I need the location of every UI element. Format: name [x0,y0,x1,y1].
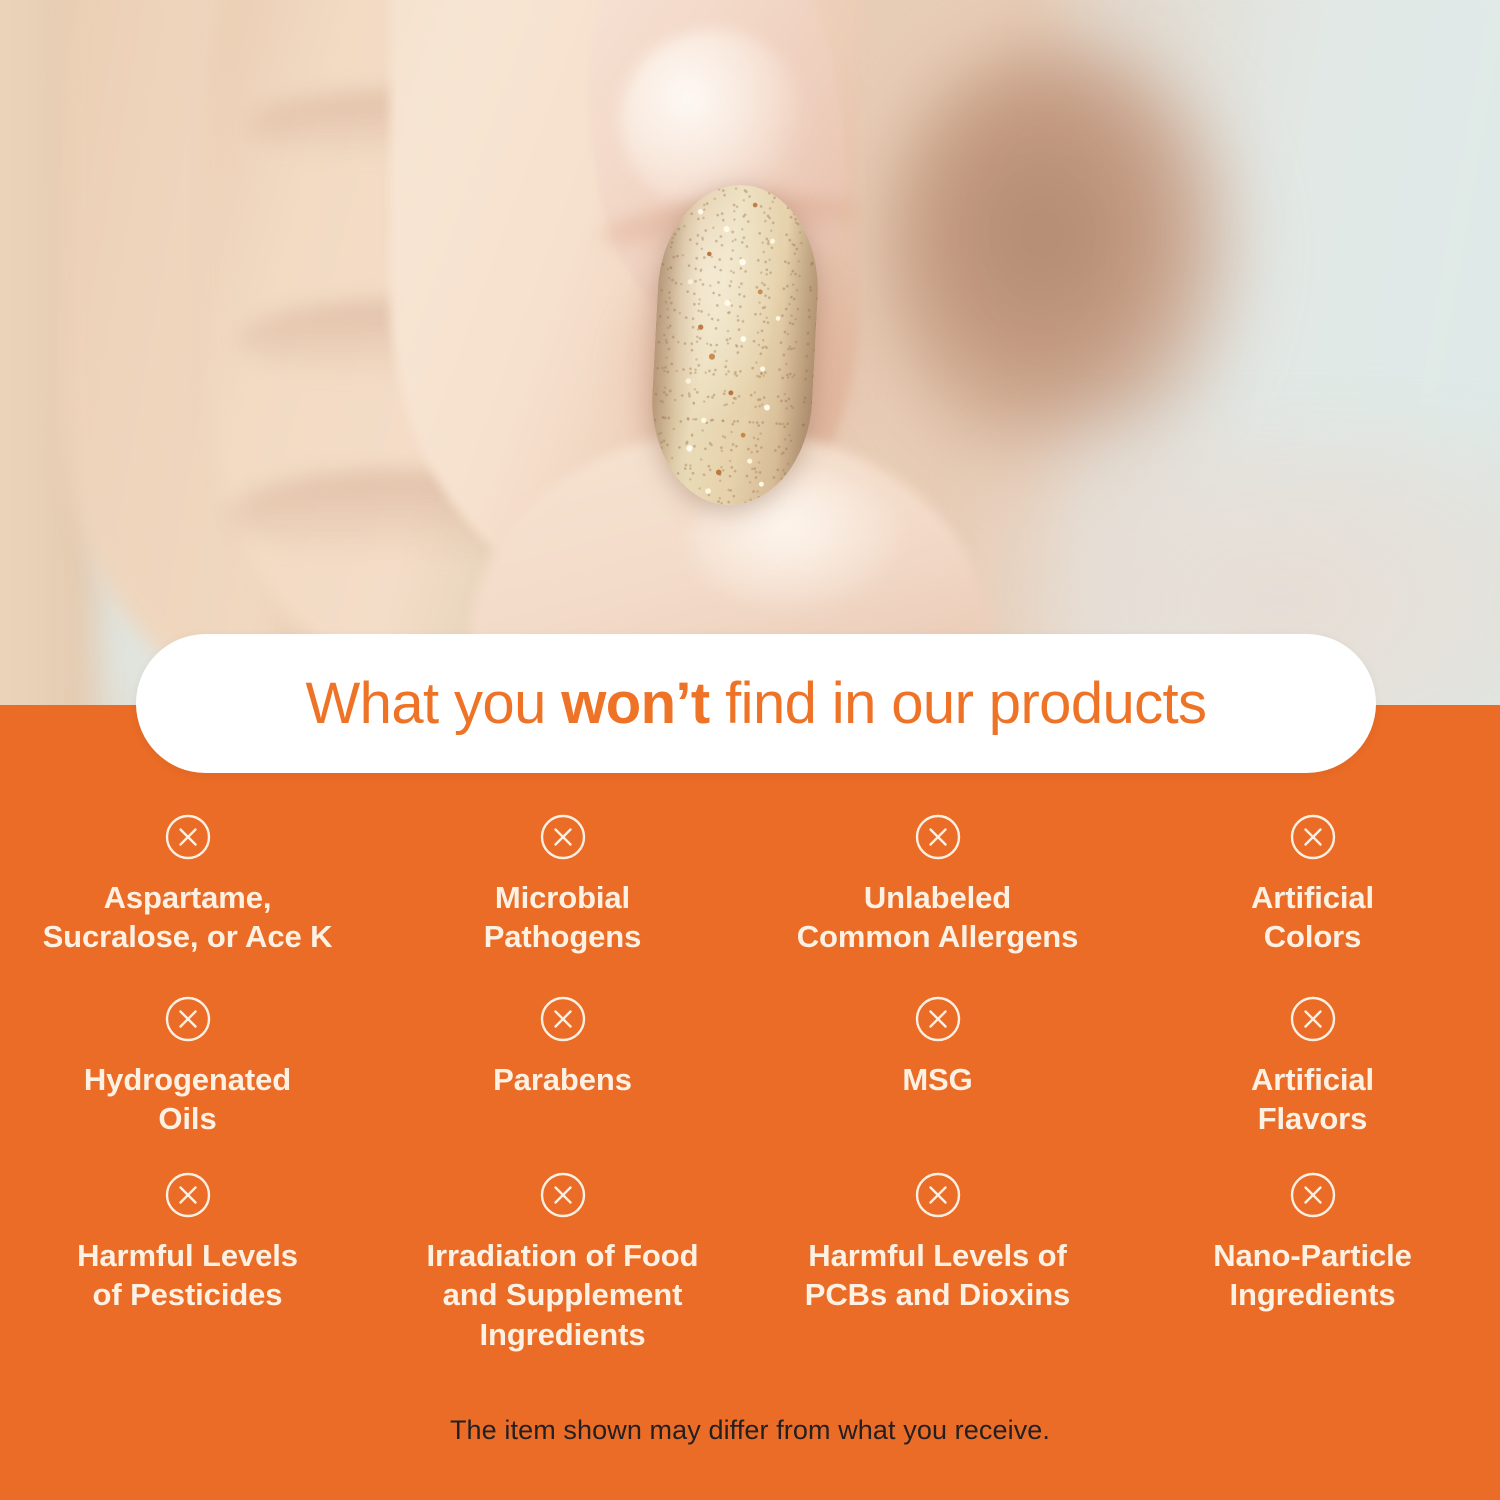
circle-x-icon [1288,812,1338,862]
hero-photo [0,0,1500,712]
exclusion-item: Artificial Flavors [1125,994,1500,1170]
title-banner: What you won’t find in our products [136,634,1376,773]
exclusion-label: Unlabeled Common Allergens [797,878,1078,957]
circle-x-icon [913,812,963,862]
exclusion-item: Unlabeled Common Allergens [750,812,1125,994]
exclusion-item: Hydrogenated Oils [0,994,375,1170]
title-part-3: find in our products [710,671,1207,736]
circle-x-icon [1288,994,1338,1044]
exclusion-item: Microbial Pathogens [375,812,750,994]
circle-x-icon [163,812,213,862]
circle-x-icon [163,994,213,1044]
exclusion-label: Harmful Levels of Pesticides [77,1236,298,1315]
photo-background-blur-blob [880,40,1240,470]
exclusion-item: Harmful Levels of PCBs and Dioxins [750,1170,1125,1346]
tablet-icon [647,181,824,509]
exclusion-label: Artificial Flavors [1251,1060,1374,1139]
circle-x-icon [538,1170,588,1220]
exclusion-label: Artificial Colors [1251,878,1374,957]
exclusion-label: Parabens [493,1060,632,1099]
page-title: What you won’t find in our products [306,675,1207,733]
title-part-1: What you [306,671,562,736]
circle-x-icon [913,994,963,1044]
circle-x-icon [163,1170,213,1220]
exclusion-item: MSG [750,994,1125,1170]
exclusion-item: Aspartame, Sucralose, or Ace K [0,812,375,994]
exclusions-grid: Aspartame, Sucralose, or Ace K Microbial… [0,812,1500,1346]
exclusion-label: Microbial Pathogens [484,878,642,957]
exclusion-item: Parabens [375,994,750,1170]
exclusion-item: Irradiation of Food and Supplement Ingre… [375,1170,750,1346]
circle-x-icon [538,994,588,1044]
exclusion-label: Aspartame, Sucralose, or Ace K [43,878,333,957]
exclusion-label: Nano-Particle Ingredients [1213,1236,1412,1315]
exclusion-label: Harmful Levels of PCBs and Dioxins [805,1236,1070,1315]
disclaimer-text: The item shown may differ from what you … [0,1415,1500,1446]
circle-x-icon [538,812,588,862]
exclusion-label: Irradiation of Food and Supplement Ingre… [427,1236,699,1354]
exclusion-label: MSG [902,1060,972,1099]
exclusion-item: Harmful Levels of Pesticides [0,1170,375,1346]
title-part-emphasis: won’t [561,671,709,736]
circle-x-icon [913,1170,963,1220]
exclusion-label: Hydrogenated Oils [84,1060,291,1139]
circle-x-icon [1288,1170,1338,1220]
exclusion-item: Nano-Particle Ingredients [1125,1170,1500,1346]
exclusion-item: Artificial Colors [1125,812,1500,994]
product-claims-card: What you won’t find in our products Aspa… [0,0,1500,1500]
